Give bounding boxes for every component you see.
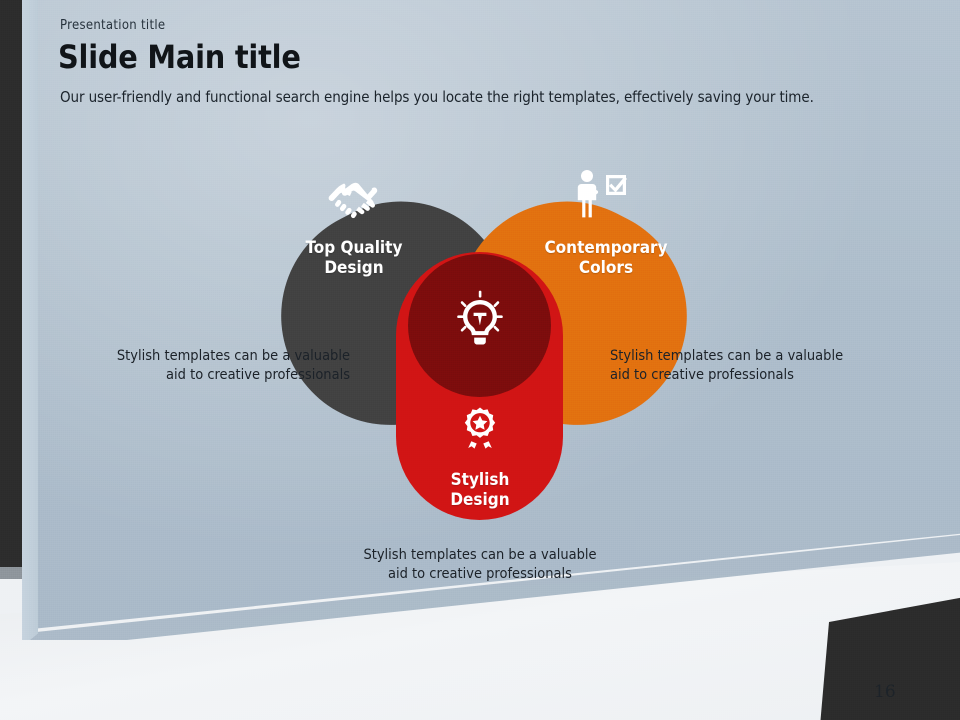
handshake-icon <box>325 178 383 230</box>
capsule-label-line2: Design <box>400 490 560 510</box>
page-number: 16 <box>874 682 896 702</box>
description-line2: aid to creative professionals <box>330 565 630 584</box>
presenter-checkbox-icon <box>573 168 629 224</box>
capsule-label-line2: Colors <box>520 258 692 278</box>
capsule-label-line1: Contemporary <box>520 238 692 258</box>
description-stylish-design: Stylish templates can be a valuable aid … <box>330 546 630 584</box>
description-line1: Stylish templates can be a valuable <box>60 347 350 366</box>
description-contemporary-colors: Stylish templates can be a valuable aid … <box>610 347 900 385</box>
lightbulb-icon <box>448 290 512 358</box>
venn-capsule-diagram: Top Quality Design Contemporary Colors S… <box>0 0 960 720</box>
capsule-label-line1: Top Quality <box>268 238 440 258</box>
slide-canvas: Presentation title Slide Main title Our … <box>0 0 960 720</box>
award-medal-icon <box>453 406 507 468</box>
description-line1: Stylish templates can be a valuable <box>610 347 900 366</box>
description-line2: aid to creative professionals <box>60 366 350 385</box>
capsule-label-line1: Stylish <box>400 470 560 490</box>
description-line1: Stylish templates can be a valuable <box>330 546 630 565</box>
capsule-label-contemporary-colors: Contemporary Colors <box>520 238 692 278</box>
description-top-quality-design: Stylish templates can be a valuable aid … <box>60 347 350 385</box>
capsule-label-line2: Design <box>268 258 440 278</box>
description-line2: aid to creative professionals <box>610 366 900 385</box>
capsule-label-stylish-design: Stylish Design <box>400 470 560 510</box>
capsule-label-top-quality-design: Top Quality Design <box>268 238 440 278</box>
